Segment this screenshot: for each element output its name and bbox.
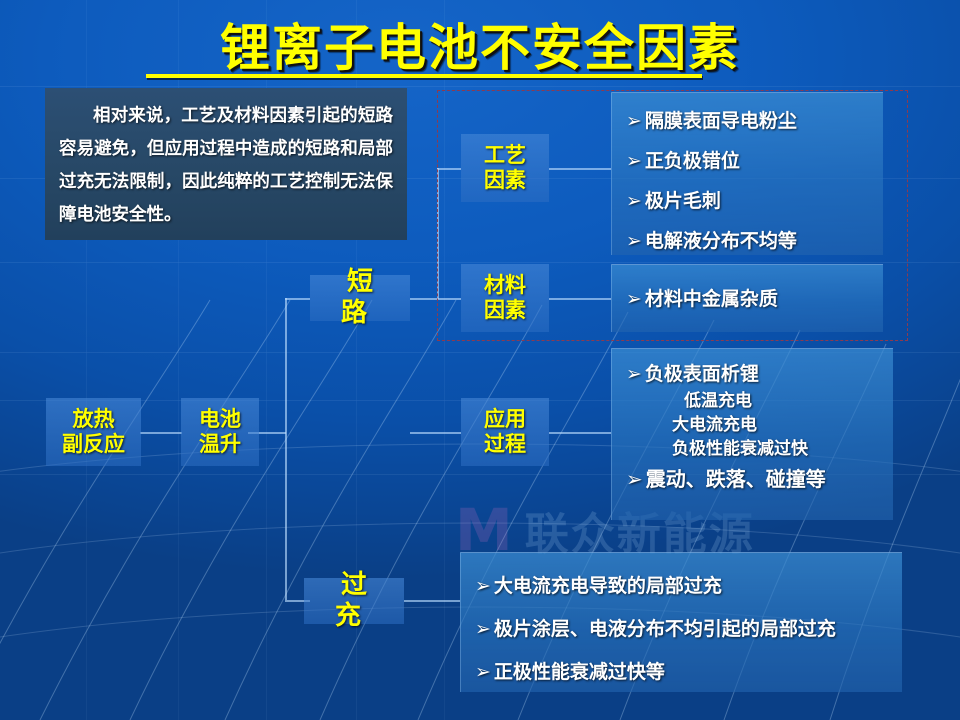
list-item: ➢ 材料中金属杂质 (626, 285, 778, 313)
connector-overcharge-to-panel (404, 600, 460, 602)
list-item: ➢ 电解液分布不均等 (626, 221, 873, 261)
connector-to-application-process (410, 432, 461, 434)
sub-item-label: 低温充电 (684, 391, 752, 411)
chip-label: 放热 副反应 (62, 407, 125, 457)
list-item-label: 正负极错位 (645, 141, 740, 181)
arrow-bullet-icon: ➢ (626, 181, 642, 221)
title-underline (146, 74, 702, 78)
connector-temp-to-heat (140, 432, 182, 434)
sub-item: 低温充电 (626, 389, 883, 413)
panel-material-factors: ➢ 材料中金属杂质 (611, 264, 883, 332)
chip-exothermic-side-reaction[interactable]: 放热 副反应 (46, 398, 141, 466)
arrow-bullet-icon: ➢ (475, 651, 491, 694)
chip-process-factor[interactable]: 工艺 因素 (461, 134, 549, 202)
list-item: ➢ 大电流充电导致的局部过充 (475, 565, 892, 608)
summary-note-box: 相对来说，工艺及材料因素引起的短路容易避免，但应用过程中造成的短路和局部过充无法… (45, 88, 407, 240)
sub-item-label: 大电流充电 (672, 415, 757, 435)
list-item-label: 震动、跌落、碰撞等 (646, 461, 826, 497)
arrow-bullet-icon: ➢ (475, 565, 491, 608)
list-item-label: 电解液分布不均等 (645, 221, 797, 261)
page-title: 锂离子电池不安全因素 (0, 8, 960, 84)
chip-label: 过 充 (304, 570, 404, 631)
chip-overcharge[interactable]: 过 充 (304, 578, 404, 624)
list-item: ➢ 极片涂层、电液分布不均引起的局部过充 (475, 608, 892, 651)
list-item-label: 材料中金属杂质 (645, 285, 778, 313)
slide-canvas: M 联众新能源 锂离子电池不安全因素 相对来说，工艺及材料因素引起的短路容易避免… (0, 0, 960, 720)
list-item-label: 极片涂层、电液分布不均引起的局部过充 (494, 608, 836, 651)
list-item-label: 极片毛刺 (645, 181, 721, 221)
connector-trunk-vertical (285, 298, 287, 600)
list-item: ➢ 正负极错位 (626, 141, 873, 181)
sub-item-label: 负极性能衰减过快 (672, 439, 808, 459)
list-item-label: 负极表面析锂 (645, 359, 759, 389)
chip-battery-temperature-rise[interactable]: 电池 温升 (181, 398, 259, 466)
arrow-bullet-icon: ➢ (626, 359, 642, 389)
connector-material-to-panel (549, 298, 611, 300)
arrow-bullet-icon: ➢ (626, 141, 642, 181)
arrow-bullet-icon: ➢ (626, 285, 642, 313)
chip-application-process[interactable]: 应用 过程 (461, 398, 549, 466)
list-item-label: 正极性能衰减过快等 (494, 651, 665, 694)
panel-overcharge: ➢ 大电流充电导致的局部过充 ➢ 极片涂层、电液分布不均引起的局部过充 ➢ 正极… (460, 552, 902, 692)
connector-application-to-panel (549, 432, 611, 434)
list-item: ➢ 负极表面析锂 (626, 359, 883, 389)
panel-application-process: ➢ 负极表面析锂 低温充电 大电流充电 负极性能衰减过快 ➢ 震动、跌落、碰撞等 (611, 348, 893, 520)
chip-label: 工艺 因素 (484, 143, 526, 193)
connector-to-material-factor (437, 298, 461, 300)
arrow-bullet-icon: ➢ (626, 221, 642, 261)
chip-label: 应用 过程 (484, 407, 526, 457)
connector-short-circuit-right (410, 298, 438, 300)
panel-process-factors: ➢ 隔膜表面导电粉尘 ➢ 正负极错位 ➢ 极片毛刺 ➢ 电解液分布不均等 (611, 92, 883, 255)
arrow-bullet-icon: ➢ (626, 461, 643, 497)
connector-factor-branch-vertical (437, 168, 439, 299)
connector-trunk-to-short-circuit (285, 298, 310, 300)
list-item-label: 隔膜表面导电粉尘 (645, 101, 797, 141)
chip-material-factor[interactable]: 材料 因素 (461, 264, 549, 332)
connector-process-to-panel (549, 168, 611, 170)
chip-label: 短 路 (310, 267, 410, 328)
connector-to-process-factor (437, 168, 461, 170)
list-item-label: 大电流充电导致的局部过充 (494, 565, 722, 608)
sub-item: 大电流充电 (626, 413, 883, 437)
chip-label: 电池 温升 (199, 407, 241, 457)
chip-label: 材料 因素 (484, 273, 526, 323)
sub-item: 负极性能衰减过快 (626, 437, 883, 461)
arrow-bullet-icon: ➢ (475, 608, 491, 651)
list-item: ➢ 正极性能衰减过快等 (475, 651, 892, 694)
list-item: ➢ 震动、跌落、碰撞等 (626, 461, 883, 497)
list-item: ➢ 隔膜表面导电粉尘 (626, 101, 873, 141)
arrow-bullet-icon: ➢ (626, 101, 642, 141)
list-item: ➢ 极片毛刺 (626, 181, 873, 221)
chip-short-circuit[interactable]: 短 路 (310, 275, 410, 321)
